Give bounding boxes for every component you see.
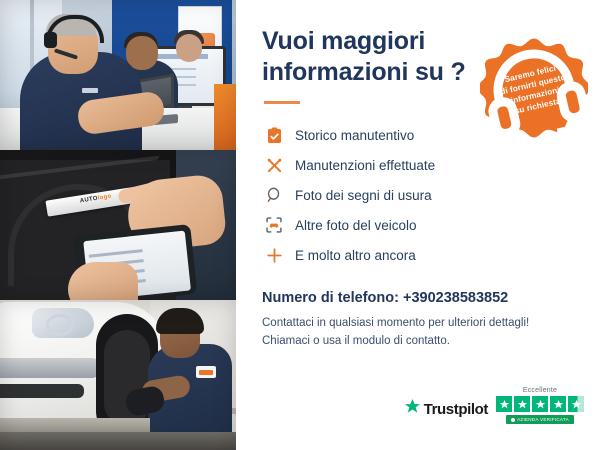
page-title-line-2: informazioni su ?: [262, 58, 466, 86]
feature-item-foto-segni-usura: Foto dei segni di usura: [262, 180, 578, 210]
trustpilot-rating-word: Eccellente: [523, 387, 557, 394]
star-4: [550, 396, 566, 412]
star-1: [496, 396, 512, 412]
trustpilot-name: Trustpilot: [424, 401, 488, 418]
mechanic-wheel-photo: [0, 300, 236, 450]
car-bumper: [0, 358, 100, 378]
mechanic-hair: [156, 308, 204, 334]
trustpilot-widget[interactable]: Trustpilot Eccellente: [404, 387, 584, 424]
promo-banner: AUTOlogo: [0, 0, 600, 450]
car-lower-grille: [0, 384, 84, 398]
plus-icon: [262, 247, 286, 264]
star-5: [568, 396, 584, 412]
content-panel: Vuoi maggiori informazioni su ?: [236, 0, 600, 450]
page-title: Vuoi maggiori informazioni su ?: [262, 26, 472, 87]
car-headlight: [32, 308, 94, 338]
third-operator-head: [176, 34, 202, 62]
uniform-logo: [196, 366, 216, 378]
call-center-operators-photo: [0, 0, 236, 150]
star-2: [514, 396, 530, 412]
feature-label: E molto altro ancora: [295, 248, 416, 263]
feature-item-altre-foto-veicolo: Altre foto del veicolo: [262, 210, 578, 240]
hand-holding-tablet: [68, 262, 138, 300]
request-info-badge: Saremo felici di fornirti queste informa…: [480, 36, 588, 144]
trustpilot-stars: [496, 396, 584, 412]
phone-label: Numero di telefono:: [262, 290, 403, 306]
feature-label: Manutenzioni effettuate: [295, 158, 435, 173]
verified-label: AZIENDA VERIFICATA: [517, 417, 569, 422]
verified-badge: AZIENDA VERIFICATA: [506, 415, 574, 424]
scan-car-icon: [262, 217, 286, 233]
crossed-tools-icon: [262, 157, 286, 174]
photo-column: AUTOlogo: [0, 0, 236, 450]
feature-item-manutenzioni-effettuate: Manutenzioni effettuate: [262, 150, 578, 180]
trustpilot-brand: Trustpilot: [404, 398, 488, 424]
phone-number[interactable]: +390238583852: [403, 290, 508, 306]
headset-earcup: [44, 32, 57, 48]
clipboard-check-icon: [262, 127, 286, 144]
contact-text-line-1: Contattaci in qualsiasi momento per ulte…: [262, 315, 578, 333]
trustpilot-star-icon: [404, 398, 421, 420]
car-inspection-ruler-photo: AUTOlogo: [0, 150, 236, 300]
feature-label: Storico manutentivo: [295, 128, 414, 143]
contact-text-line-2: Chiamaci o usa il modulo di contatto.: [262, 333, 578, 351]
trustpilot-rating: Eccellente: [496, 387, 584, 424]
verified-check-icon: [511, 418, 515, 422]
feature-label: Foto dei segni di usura: [295, 188, 432, 203]
magnifier-icon: [262, 187, 286, 203]
lift-base: [0, 432, 236, 450]
phone-line: Numero di telefono: +390238583852: [262, 290, 578, 306]
feature-label: Altre foto del veicolo: [295, 218, 417, 233]
contact-text: Contattaci in qualsiasi momento per ulte…: [262, 315, 578, 351]
page-title-line-1: Vuoi maggiori: [262, 27, 425, 55]
star-3: [532, 396, 548, 412]
feature-item-molto-altro: E molto altro ancora: [262, 240, 578, 270]
title-accent-bar: [264, 101, 300, 104]
orange-signage: [214, 84, 236, 150]
